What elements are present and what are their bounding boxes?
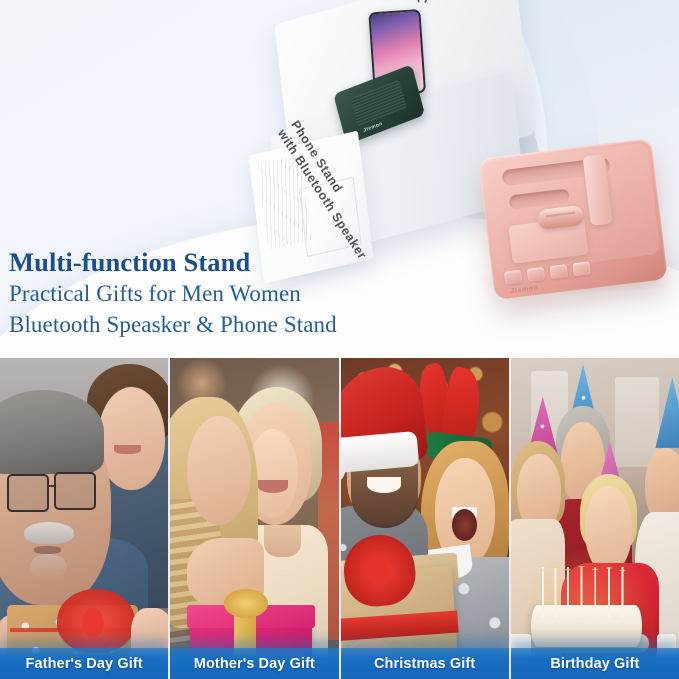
gallery-panel-christmas: Christmas Gift xyxy=(341,358,509,679)
caption-birthday: Birthday Gift xyxy=(511,648,679,679)
speaker-grill-icon xyxy=(351,80,407,128)
caption-mothers-day: Mother's Day Gift xyxy=(170,648,338,679)
page-title: Multi-function Stand xyxy=(9,248,337,278)
scene-christmas xyxy=(341,358,509,679)
subtitle-line-1: Practical Gifts for Men Women xyxy=(9,278,337,310)
caption-fathers-day: Father's Day Gift xyxy=(0,648,168,679)
device-button xyxy=(504,270,522,285)
candle-flames-icon xyxy=(538,557,636,579)
window-right xyxy=(615,377,659,467)
gallery-panel-birthday: Birthday Gift xyxy=(511,358,679,679)
mustache xyxy=(24,522,74,544)
caption-christmas: Christmas Gift xyxy=(341,648,509,679)
scene-fathers-day xyxy=(0,358,168,679)
device-button xyxy=(550,264,568,279)
gift-ribbon-bow xyxy=(224,589,268,618)
hero-section: Jtemon Jtemon Phone Stand with Bluetooth… xyxy=(0,0,679,358)
beard xyxy=(351,464,418,528)
device-button xyxy=(527,267,545,282)
headline-block: Multi-function Stand Practical Gifts for… xyxy=(9,248,337,341)
scene-mothers-day xyxy=(170,358,338,679)
gallery-panel-fathers-day: Father's Day Gift xyxy=(0,358,168,679)
eyeglasses-left-lens xyxy=(7,474,49,513)
scene-birthday xyxy=(511,358,679,679)
subtitle-line-2: Bluetooth Speasker & Phone Stand xyxy=(9,309,337,341)
daughter-face xyxy=(187,416,251,525)
product-device-rose-gold: Jtemon xyxy=(478,138,668,300)
caption-label: Mother's Day Gift xyxy=(194,656,315,672)
device-button xyxy=(572,261,590,276)
lifestyle-gallery: Father's Day Gift xyxy=(0,358,679,679)
caption-label: Father's Day Gift xyxy=(26,656,143,672)
caption-label: Christmas Gift xyxy=(374,656,475,672)
gallery-panel-mothers-day: Mother's Day Gift xyxy=(170,358,338,679)
caption-label: Birthday Gift xyxy=(550,656,639,672)
eyeglasses-right-lens xyxy=(54,472,96,511)
product-marketing-image: Jtemon Jtemon Phone Stand with Bluetooth… xyxy=(0,0,679,679)
